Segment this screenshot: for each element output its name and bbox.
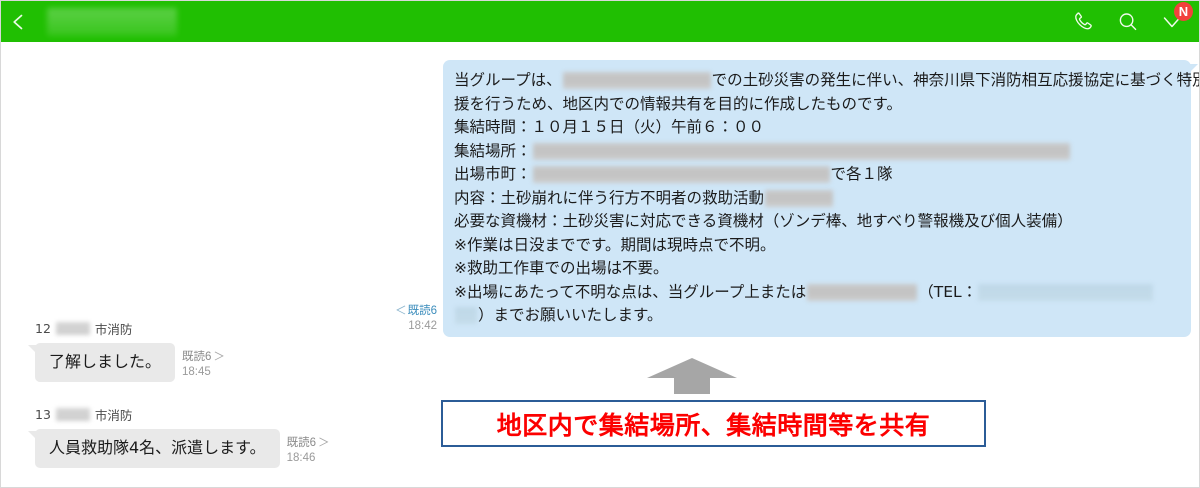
message-text: 必要な資機材：土砂災害に対応できる資機材（ゾンデ棒、地すべり警報機及び個人装備） <box>454 212 1073 230</box>
chat-header: N <box>1 1 1200 42</box>
message-text: 援を行うため、地区内での情報共有を目的に作成したものです。 <box>454 95 902 113</box>
read-receipt-chevron: ＞ <box>318 437 330 449</box>
message-sender-name: 13 市消防 <box>35 405 330 424</box>
annotation-callout-box: 地区内で集結場所、集結時間等を共有 <box>441 400 986 447</box>
message-line: 集結場所： <box>454 140 1179 164</box>
read-receipt-count: 6 <box>205 351 211 363</box>
message-line: 必要な資機材：土砂災害に対応できる資機材（ゾンデ棒、地すべり警報機及び個人装備） <box>454 210 1179 234</box>
incoming-message-row: 了解しました。 既読6＞ 18:45 <box>35 343 225 382</box>
message-text: 集結場所： <box>454 142 532 160</box>
back-button[interactable] <box>1 1 45 42</box>
read-receipt-label: 既読 <box>182 351 205 363</box>
message-text: ※出場にあたって不明な点は、当グループ上または <box>454 283 806 301</box>
message-text: 集結時間：１０月１５日（火）午前６：００ <box>454 118 764 136</box>
message-text: での土砂災害の発生に伴い、神奈川県下消防相互応援協定に基づく特別応 <box>712 71 1200 89</box>
message-line: ）までお願いいたします。 <box>454 304 1179 328</box>
message-line: ※出場にあたって不明な点は、当グループ上または（TEL： <box>454 281 1179 305</box>
message-text: ※救助工作車での出場は不要。 <box>454 259 669 277</box>
message-timestamp: 18:45 <box>182 365 225 381</box>
message-timestamp: 18:42 <box>395 319 437 334</box>
message-line: 出場市町：で各１隊 <box>454 163 1179 187</box>
header-actions: N <box>1069 7 1200 37</box>
read-receipt-chevron: ＞ <box>213 351 225 363</box>
message-text: で各１隊 <box>831 165 893 183</box>
read-receipt-label: 既読 <box>408 305 431 317</box>
menu-button[interactable]: N <box>1157 7 1187 37</box>
redacted-block <box>455 307 477 324</box>
message-line: ※作業は日没までです。期間は現時点で不明。 <box>454 234 1179 258</box>
read-receipt-count: 6 <box>431 305 437 317</box>
incoming-message-meta: 既読6＞ 18:46 <box>280 436 330 468</box>
read-receipt-count: 6 <box>310 437 316 449</box>
call-icon <box>1072 10 1096 34</box>
incoming-message-1: 12 市消防 了解しました。 既読6＞ 18:45 <box>35 319 225 382</box>
message-text: ）までお願いいたします。 <box>478 306 662 324</box>
read-receipt[interactable]: 既読6＞ <box>287 436 330 452</box>
message-line: ※救助工作車での出場は不要。 <box>454 257 1179 281</box>
redacted-block <box>765 190 833 207</box>
chat-message-list[interactable]: ＜既読6 18:42 当グループは、での土砂災害の発生に伴い、神奈川県下消防相互… <box>1 42 1200 488</box>
read-receipt-chevron: ＜ <box>395 305 407 317</box>
incoming-message-2: 13 市消防 人員救助隊4名、派遣します。 既読6＞ 18:46 <box>35 405 330 468</box>
sender-name-redacted <box>56 408 90 421</box>
search-button[interactable] <box>1113 7 1143 37</box>
call-button[interactable] <box>1069 7 1099 37</box>
outgoing-message-bubble[interactable]: 当グループは、での土砂災害の発生に伴い、神奈川県下消防相互応援協定に基づく特別応… <box>443 60 1191 337</box>
read-receipt-label: 既読 <box>287 437 310 449</box>
back-arrow-icon <box>11 12 35 32</box>
incoming-message-bubble[interactable]: 了解しました。 <box>35 343 175 382</box>
message-text: 出場市町： <box>454 165 532 183</box>
redacted-block <box>807 284 917 301</box>
message-sender-name: 12 市消防 <box>35 319 225 338</box>
redacted-block <box>533 166 830 183</box>
message-line: 集結時間：１０月１５日（火）午前６：００ <box>454 116 1179 140</box>
message-timestamp: 18:46 <box>287 451 330 467</box>
sender-number: 12 <box>35 321 51 336</box>
chat-screenshot: N ＜既読6 18:42 当グループは、での土砂災害の発生に伴い、神奈川県下消防… <box>0 0 1200 488</box>
incoming-message-meta: 既読6＞ 18:45 <box>175 350 225 382</box>
read-receipt[interactable]: ＜既読6 <box>395 304 437 319</box>
sender-name-redacted <box>56 322 90 335</box>
incoming-message-bubble[interactable]: 人員救助隊4名、派遣します。 <box>35 429 280 468</box>
message-line: 援を行うため、地区内での情報共有を目的に作成したものです。 <box>454 93 1179 117</box>
sender-suffix: 市消防 <box>95 405 133 424</box>
message-text: 当グループは、 <box>454 71 562 89</box>
redacted-block <box>533 143 1070 160</box>
search-icon <box>1116 10 1140 34</box>
notification-badge: N <box>1174 2 1193 21</box>
annotation-up-arrow-icon <box>646 357 738 395</box>
sender-number: 13 <box>35 407 51 422</box>
redacted-block <box>978 284 1153 301</box>
read-receipt[interactable]: 既読6＞ <box>182 350 225 366</box>
redacted-block <box>563 72 711 89</box>
message-line: 当グループは、での土砂災害の発生に伴い、神奈川県下消防相互応援協定に基づく特別応 <box>454 69 1179 93</box>
sender-suffix: 市消防 <box>95 319 133 338</box>
message-text: （TEL： <box>918 283 977 301</box>
chat-title-redacted[interactable] <box>47 8 177 36</box>
message-text: 内容：土砂崩れに伴う行方不明者の救助活動 <box>454 189 764 207</box>
message-line: 内容：土砂崩れに伴う行方不明者の救助活動 <box>454 187 1179 211</box>
incoming-message-row: 人員救助隊4名、派遣します。 既読6＞ 18:46 <box>35 429 330 468</box>
outgoing-message-meta: ＜既読6 18:42 <box>395 304 443 336</box>
message-text: ※作業は日没までです。期間は現時点で不明。 <box>454 236 775 254</box>
outgoing-message-row: ＜既読6 18:42 当グループは、での土砂災害の発生に伴い、神奈川県下消防相互… <box>381 60 1191 337</box>
annotation-text: 地区内で集結場所、集結時間等を共有 <box>497 406 931 442</box>
